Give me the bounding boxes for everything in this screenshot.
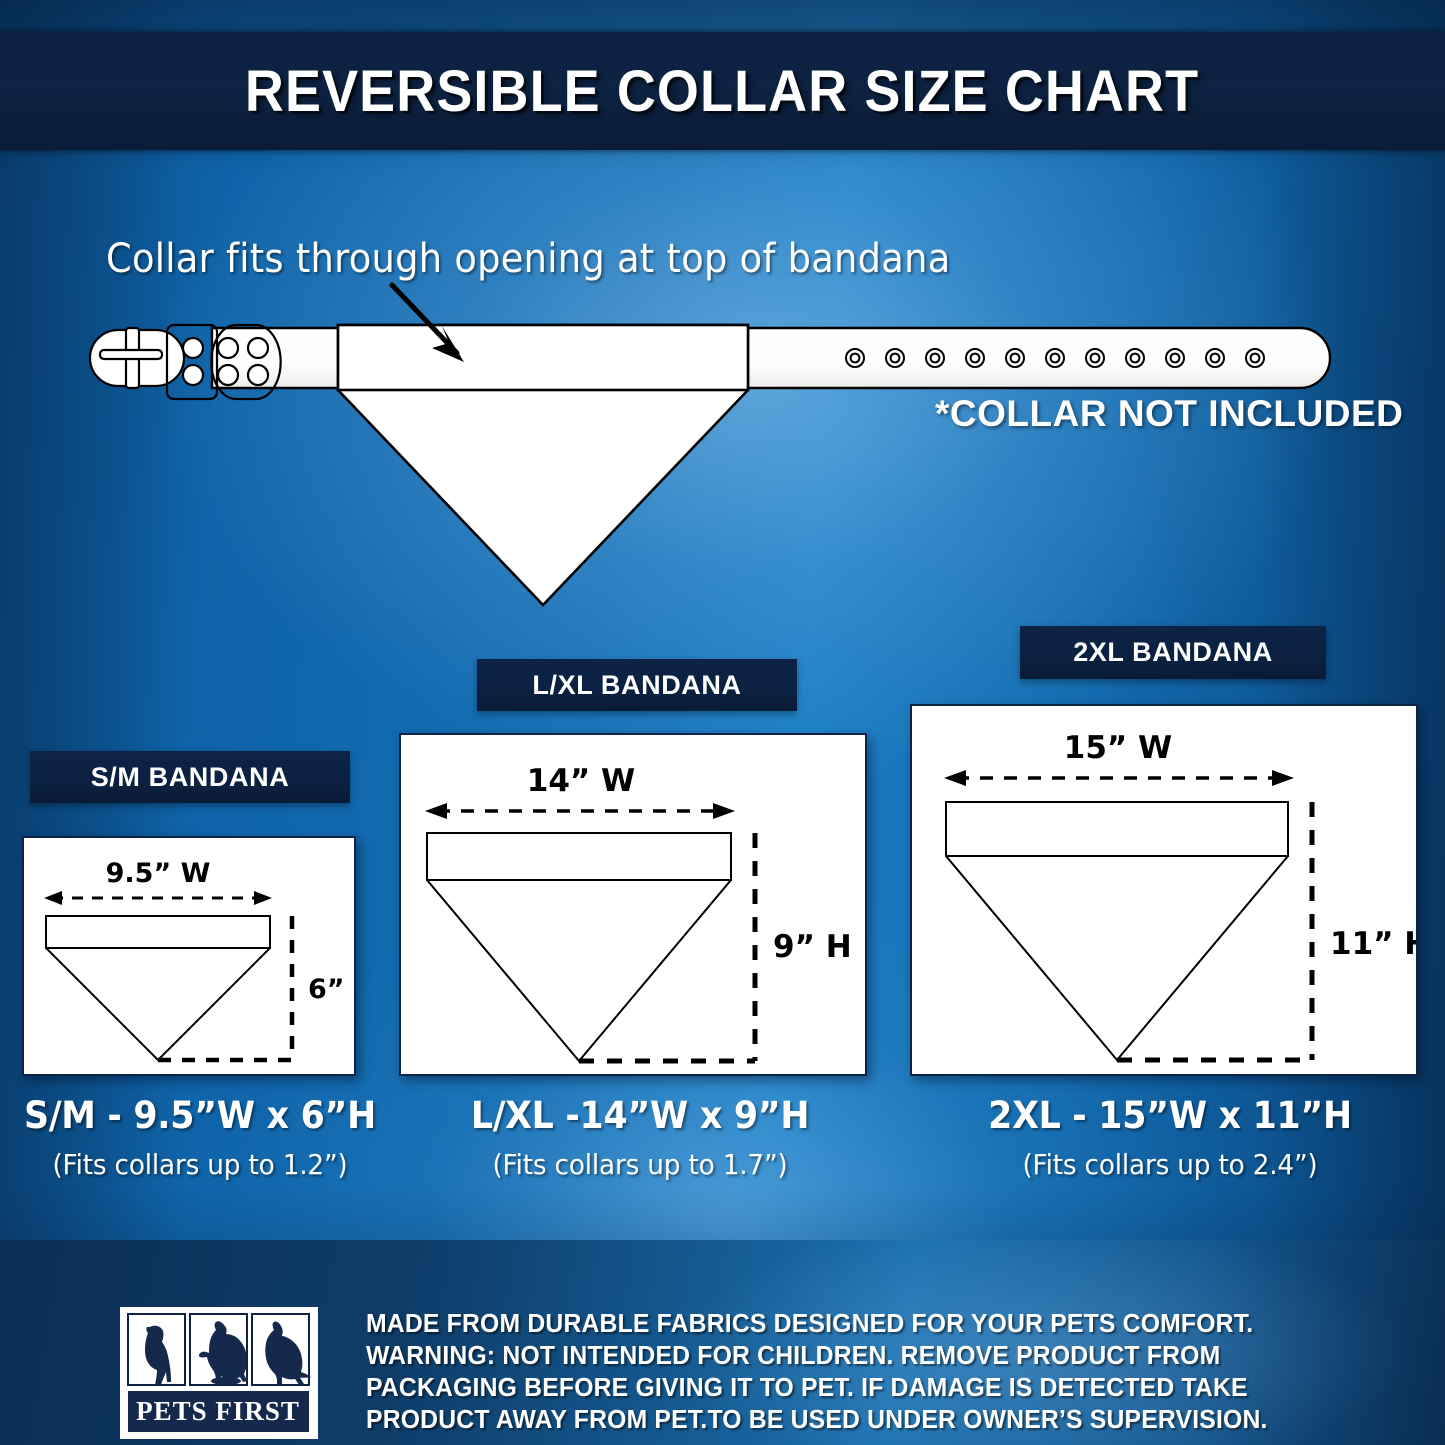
- xxl-width-label: 15” W: [1064, 730, 1173, 766]
- panel-lxl-label: L/XL BANDANA: [477, 659, 797, 711]
- xxl-width-dimension: [944, 770, 1294, 786]
- panel-2xl-card: 15” W 11” H: [910, 704, 1418, 1076]
- caption-sm-fits: (Fits collars up to 1.2”): [12, 1148, 388, 1181]
- panel-lxl-card: 14” W 9” H: [399, 733, 867, 1076]
- disclaimer-line-3: PACKAGING BEFORE GIVING IT TO PET. IF DA…: [366, 1372, 1326, 1404]
- caption-sm-size: S/M - 9.5”W x 6”H: [12, 1094, 388, 1137]
- xxl-height-label: 11” H: [1330, 926, 1416, 962]
- pets-first-logo: PETS FIRST: [120, 1307, 318, 1439]
- panel-2xl-label: 2XL BANDANA: [1020, 626, 1326, 679]
- caption-lxl-fits: (Fits collars up to 1.7”): [443, 1148, 838, 1181]
- sm-height-label: 6” H: [308, 974, 354, 1005]
- disclaimer-line-4: PRODUCT AWAY FROM PET.TO BE USED UNDER O…: [366, 1404, 1326, 1436]
- title-band: REVERSIBLE COLLAR SIZE CHART: [0, 32, 1445, 150]
- lxl-width-label: 14” W: [527, 763, 636, 799]
- hero-caption: Collar fits through opening at top of ba…: [106, 236, 951, 282]
- caption-2xl-fits: (Fits collars up to 2.4”): [968, 1148, 1372, 1181]
- lxl-width-dimension: [425, 803, 735, 819]
- caption-2xl: 2XL - 15”W x 11”H (Fits collars up to 2.…: [955, 1094, 1385, 1181]
- bandana-main: [338, 325, 748, 605]
- page-title: REVERSIBLE COLLAR SIZE CHART: [245, 58, 1199, 125]
- sm-bandana-shape: [46, 916, 270, 1060]
- disclaimer-line-2: WARNING: NOT INTENDED FOR CHILDREN. REMO…: [366, 1340, 1326, 1372]
- lxl-bandana-shape: [427, 833, 731, 1061]
- logo-wordmark: PETS FIRST: [136, 1396, 300, 1426]
- caption-sm: S/M - 9.5”W x 6”H (Fits collars up to 1.…: [0, 1094, 400, 1181]
- caption-2xl-size: 2XL - 15”W x 11”H: [968, 1094, 1372, 1137]
- panel-sm-label: S/M BANDANA: [30, 751, 350, 803]
- panel-sm-card: 9.5” W 6” H: [22, 836, 356, 1076]
- disclaimer-line-1: MADE FROM DURABLE FABRICS DESIGNED FOR Y…: [366, 1308, 1326, 1340]
- footer-disclaimer: MADE FROM DURABLE FABRICS DESIGNED FOR Y…: [366, 1308, 1326, 1436]
- lxl-height-label: 9” H: [773, 929, 852, 965]
- collar-not-included-note: *COLLAR NOT INCLUDED: [935, 393, 1403, 435]
- sm-width-dimension: [44, 891, 272, 905]
- sm-width-label: 9.5” W: [106, 858, 211, 889]
- caption-lxl-size: L/XL -14”W x 9”H: [443, 1094, 838, 1137]
- xxl-bandana-shape: [946, 802, 1288, 1060]
- caption-lxl: L/XL -14”W x 9”H (Fits collars up to 1.7…: [430, 1094, 850, 1181]
